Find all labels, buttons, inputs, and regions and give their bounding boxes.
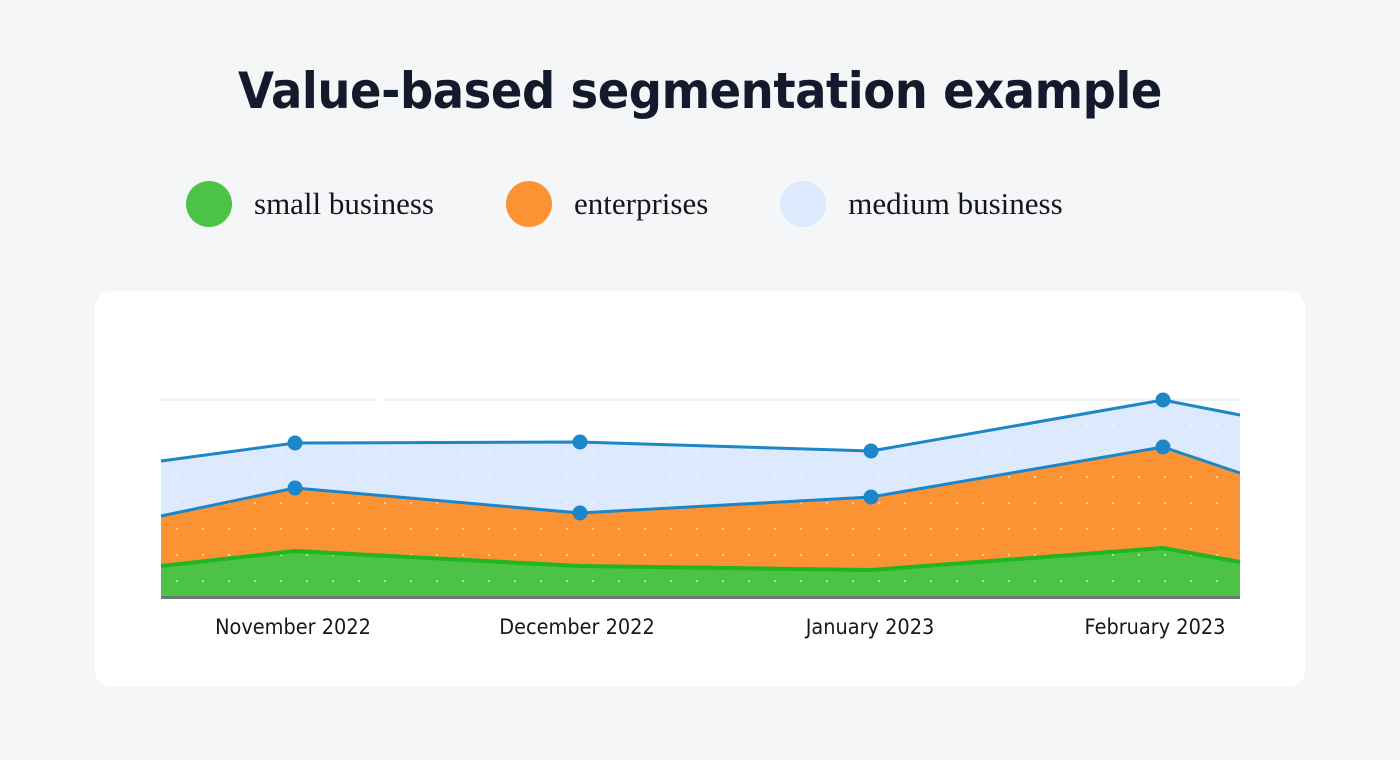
legend-item-small-business[interactable]: small business (186, 181, 434, 227)
legend-label-small-business: small business (254, 187, 434, 221)
legend-item-enterprises[interactable]: enterprises (506, 181, 708, 227)
legend-item-medium-business[interactable]: medium business (780, 181, 1062, 227)
x-axis-tick-january-2023: January 2023 (806, 612, 935, 642)
data-point-medium-business-jan[interactable] (864, 444, 879, 459)
chart-x-axis: November 2022 December 2022 January 2023… (0, 612, 1400, 646)
legend-dot-medium-business-icon (780, 181, 826, 227)
data-point-enterprises-nov[interactable] (288, 481, 303, 496)
x-axis-tick-december-2022: December 2022 (499, 612, 654, 642)
chart-gridlines (161, 399, 1240, 402)
legend-label-medium-business: medium business (848, 187, 1062, 221)
chart-baseline (161, 596, 1240, 599)
data-point-enterprises-dec[interactable] (573, 506, 588, 521)
data-point-medium-business-dec[interactable] (573, 435, 588, 450)
data-point-medium-business-feb[interactable] (1156, 393, 1171, 408)
data-point-enterprises-feb[interactable] (1156, 440, 1171, 455)
x-axis-tick-november-2022: November 2022 (215, 612, 371, 642)
x-axis-tick-february-2023: February 2023 (1085, 612, 1226, 642)
legend-label-enterprises: enterprises (574, 187, 708, 221)
data-point-medium-business-nov[interactable] (288, 436, 303, 451)
legend-dot-small-business-icon (186, 181, 232, 227)
chart-legend: small business enterprises medium busine… (186, 180, 1063, 228)
legend-dot-enterprises-icon (506, 181, 552, 227)
data-point-enterprises-jan[interactable] (864, 490, 879, 505)
page-title: Value-based segmentation example (49, 62, 1351, 120)
